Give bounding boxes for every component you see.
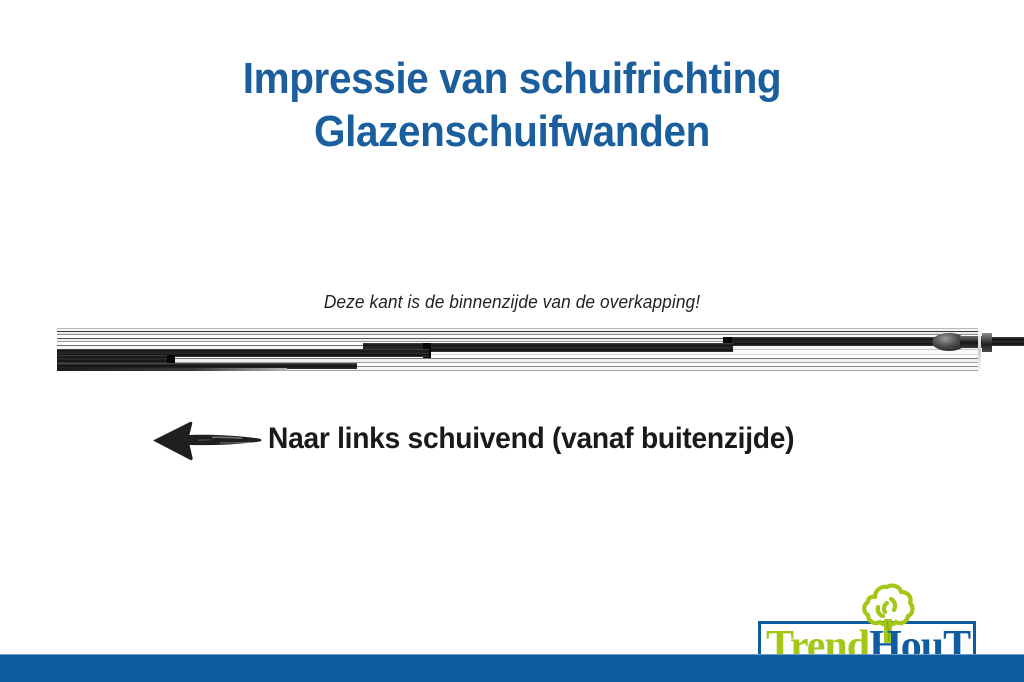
page-title: Impressie van schuifrichting Glazenschui… xyxy=(41,52,983,158)
rail-profile-image xyxy=(57,327,981,374)
arrow-left-icon xyxy=(150,418,264,464)
page-title-line-1: Impressie van schuifrichting xyxy=(41,52,983,105)
footer-bar xyxy=(0,655,1024,682)
page-title-line-2: Glazenschuifwanden xyxy=(41,105,983,158)
rail-end-cap xyxy=(978,327,981,374)
slide-canvas: Impressie van schuifrichting Glazenschui… xyxy=(0,0,1024,682)
glass-panel-1 xyxy=(57,355,173,363)
direction-label: Naar links schuivend (vanaf buitenzijde) xyxy=(268,420,794,458)
door-handle-cap xyxy=(982,333,992,352)
rail-lower-guide-line xyxy=(57,368,287,371)
inside-caption: Deze kant is de binnenzijde van de overk… xyxy=(20,292,1003,313)
